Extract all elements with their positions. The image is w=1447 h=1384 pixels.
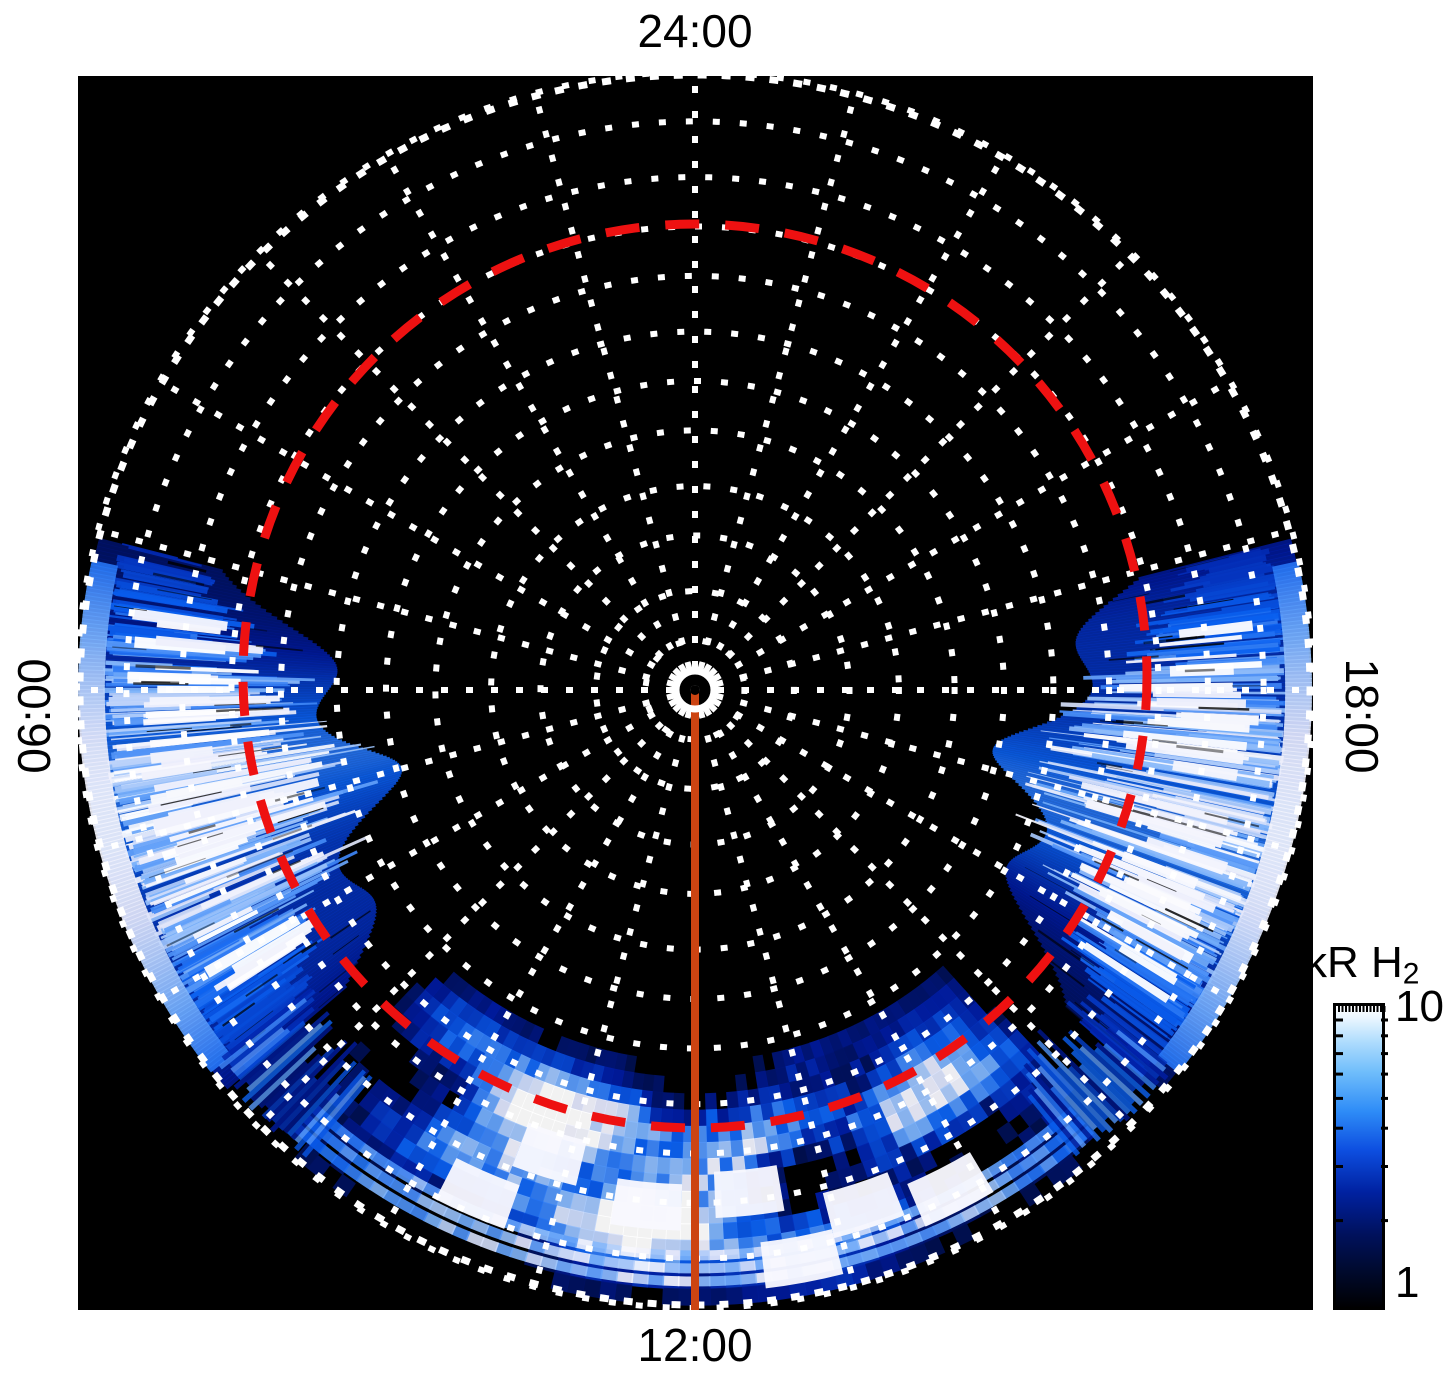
noon-sector-ribbon	[709, 1276, 726, 1287]
colorbar-gradient	[1333, 1003, 1385, 1310]
noon-sector-cell	[708, 1223, 724, 1241]
noon-sector-ribbon	[662, 1276, 679, 1287]
colorbar-title-text: kR H	[1305, 938, 1403, 987]
mlt-label-24: 24:00	[0, 8, 1390, 54]
noon-sector-cell	[736, 1221, 752, 1239]
noon-sector-ribbon	[739, 1260, 757, 1271]
noon-sector-cell	[730, 1140, 744, 1158]
noon-sector-ribbon	[619, 1246, 636, 1258]
noon-sector-cell	[672, 1093, 684, 1111]
noon-sector-cell	[669, 1158, 683, 1176]
noon-sector-ribbon	[648, 1262, 665, 1273]
noon-sector-ribbon	[663, 1263, 680, 1274]
noon-sector-ribbon	[647, 1275, 665, 1286]
noon-sector-ribbon	[709, 1263, 726, 1274]
noon-sector-ribbon	[633, 1260, 651, 1271]
noon-sector-cell	[726, 1091, 739, 1109]
colorbar-min-label: 1	[1395, 1261, 1419, 1305]
noon-sector-cell	[718, 1141, 732, 1159]
noon-sector-ribbon	[631, 1273, 649, 1284]
noon-sector-cell	[705, 1093, 717, 1111]
noon-sector-cell	[645, 1140, 659, 1158]
colorbar-tick-marks	[1336, 1006, 1388, 1313]
noon-sector-cell	[670, 1142, 683, 1160]
colorbar: kR H2 10 1	[1333, 1003, 1385, 1310]
noon-sector-cell	[750, 1219, 767, 1238]
noon-sector-ribbon	[617, 1258, 635, 1270]
noon-sector-ribbon	[724, 1275, 742, 1286]
figure-canvas: 24:00 12:00 06:00 18:00	[0, 0, 1447, 1384]
noon-sector-ribbon	[740, 1273, 758, 1284]
noon-sector-ribbon	[724, 1262, 741, 1273]
noon-sector-cell	[656, 1157, 670, 1175]
noon-sector-ribbon	[649, 1249, 666, 1260]
noon-sector-cell	[722, 1222, 738, 1240]
polar-plot-area	[78, 76, 1313, 1310]
pole-center-dot-icon	[690, 685, 700, 695]
colorbar-max-label: 10	[1395, 985, 1444, 1029]
noon-sector-blob-2	[610, 1178, 682, 1230]
polar-plot-svg	[78, 76, 1313, 1310]
mlt-label-12: 12:00	[0, 1322, 1390, 1368]
noon-sector-ribbon	[616, 1271, 634, 1283]
mlt-label-06: 06:00	[11, 616, 57, 816]
noon-sector-cell	[644, 1156, 659, 1174]
mlt-label-18: 18:00	[1339, 616, 1385, 816]
noon-sector-blob-1	[714, 1165, 785, 1218]
